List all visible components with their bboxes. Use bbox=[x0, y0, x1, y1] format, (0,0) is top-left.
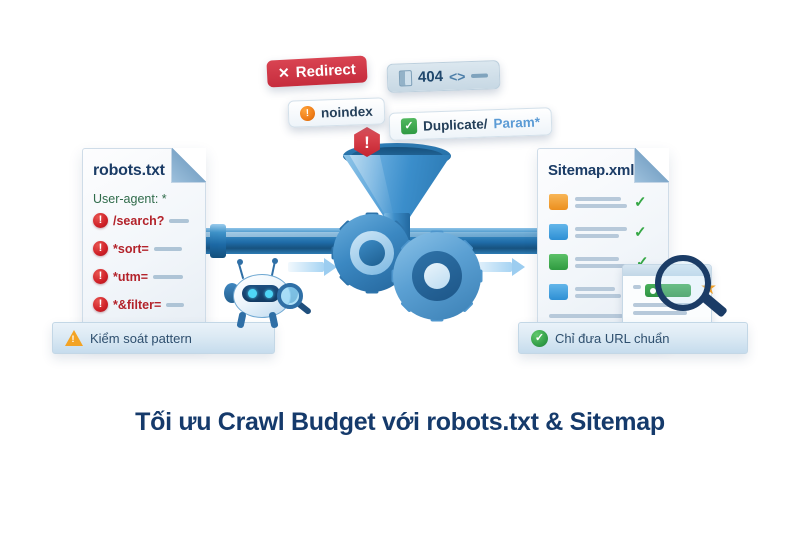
warning-icon: ! bbox=[93, 213, 108, 228]
robot-antenna-tip-left bbox=[237, 259, 243, 265]
magnifier-icon bbox=[655, 255, 711, 311]
entry-lines bbox=[575, 257, 629, 268]
check-icon: ✓ bbox=[634, 225, 647, 240]
check-box-icon: ✓ bbox=[401, 118, 418, 135]
robot-magnifier-icon bbox=[277, 283, 303, 309]
rule-pattern: *&filter= bbox=[113, 298, 161, 312]
sitemap-entry-row bbox=[549, 284, 621, 300]
pipe-joint-left bbox=[210, 224, 226, 258]
entry-lines bbox=[575, 227, 627, 238]
code-icon: <> bbox=[449, 68, 466, 85]
badge-404-label: 404 bbox=[418, 68, 444, 86]
folder-icon bbox=[549, 194, 568, 210]
folder-icon bbox=[549, 284, 568, 300]
badge-redirect[interactable]: ✕ Redirect bbox=[266, 55, 367, 87]
badge-param-label: Param* bbox=[493, 114, 540, 131]
warning-icon: ! bbox=[93, 269, 108, 284]
page-fold-corner bbox=[171, 148, 206, 183]
badge-404[interactable]: 404 <> bbox=[387, 60, 501, 93]
check-icon: ✓ bbox=[634, 195, 647, 210]
badge-duplicate-param[interactable]: ✓ Duplicate/Param* bbox=[389, 107, 553, 141]
robot-eye-right bbox=[265, 290, 273, 298]
right-caption-text: Chỉ đưa URL chuẩn bbox=[555, 331, 669, 346]
sitemap-entry-row: ✓ bbox=[549, 194, 647, 210]
badge-redirect-label: Redirect bbox=[295, 61, 356, 81]
check-circle-icon: ✓ bbox=[531, 330, 548, 347]
sitemap-xml-title: Sitemap.xml bbox=[548, 162, 634, 179]
x-icon: ✕ bbox=[278, 64, 291, 82]
page-fold-corner bbox=[634, 148, 669, 183]
warning-icon: ! bbox=[93, 241, 108, 256]
robots-rule-row: ! *utm= bbox=[93, 269, 183, 284]
entry-lines bbox=[575, 197, 627, 208]
flow-arrow-left bbox=[288, 258, 337, 276]
rule-pattern: /search? bbox=[113, 214, 164, 228]
left-caption-text: Kiểm soát pattern bbox=[90, 331, 192, 346]
badge-dash bbox=[471, 73, 488, 78]
info-circle-icon: ! bbox=[300, 106, 316, 122]
right-caption-plinth: ✓ Chỉ đưa URL chuẩn bbox=[518, 322, 748, 354]
warning-icon: ! bbox=[93, 297, 108, 312]
robot-eye-left bbox=[248, 289, 257, 298]
robot-antenna-left bbox=[238, 263, 244, 279]
rule-dash bbox=[153, 275, 183, 279]
robot-antenna-tip-right bbox=[272, 258, 278, 264]
user-agent-line: User-agent: * bbox=[93, 192, 167, 206]
badge-noindex-label: noindex bbox=[321, 104, 373, 121]
infographic-canvas: robots.txt User-agent: * ! /search? ! *s… bbox=[0, 0, 800, 533]
robots-txt-title: robots.txt bbox=[93, 162, 165, 180]
page-icon bbox=[399, 70, 413, 86]
badge-duplicate-label: Duplicate/ bbox=[423, 116, 488, 133]
rule-pattern: *utm= bbox=[113, 270, 148, 284]
folder-icon bbox=[549, 254, 568, 270]
rule-dash bbox=[169, 219, 189, 223]
entry-lines bbox=[575, 287, 621, 298]
rule-dash bbox=[166, 303, 184, 307]
sitemap-entry-row: ✓ bbox=[549, 224, 647, 240]
robots-rule-row: ! *&filter= bbox=[93, 297, 184, 312]
rule-pattern: *sort= bbox=[113, 242, 149, 256]
folder-icon bbox=[549, 224, 568, 240]
warning-triangle-icon: ! bbox=[65, 330, 83, 346]
page-title: Tối ưu Crawl Budget với robots.txt & Sit… bbox=[0, 408, 800, 437]
rule-dash bbox=[154, 247, 182, 251]
robots-rule-row: ! *sort= bbox=[93, 241, 182, 256]
sitemap-footer-line bbox=[549, 314, 623, 318]
robots-rule-row: ! /search? bbox=[93, 213, 189, 228]
badge-noindex[interactable]: ! noindex bbox=[288, 97, 386, 127]
